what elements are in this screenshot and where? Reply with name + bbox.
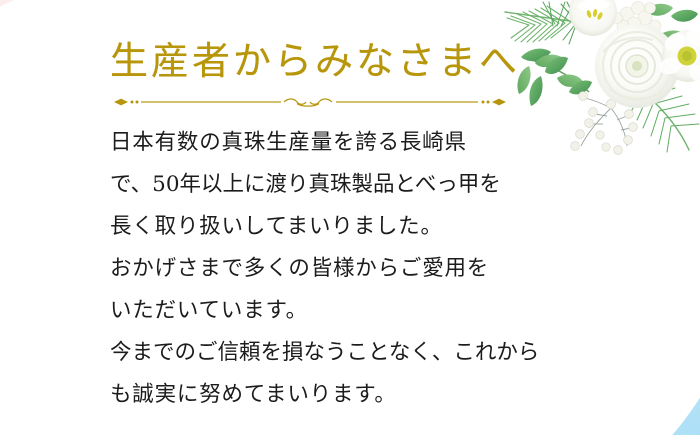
body-line: おかげさまで多くの皆様からご愛用を [110, 248, 530, 290]
ornamental-divider [112, 95, 508, 109]
page-title: 生産者からみなさまへ [110, 42, 520, 80]
banner-content: 生産者からみなさまへ [0, 0, 700, 435]
producer-message-banner: 生産者からみなさまへ [0, 0, 700, 435]
body-line: 今までのご信頼を損なうことなく、これから [110, 332, 530, 374]
body-line: いただいています。 [110, 290, 530, 332]
body-line: 日本有数の真珠生産量を誇る長崎県 [110, 122, 530, 164]
body-line: で、50年以上に渡り真珠製品とべっ甲を [110, 164, 530, 206]
body-line: 長く取り扱いしてまいりました。 [110, 206, 530, 248]
body-paragraph: 日本有数の真珠生産量を誇る長崎県 で、50年以上に渡り真珠製品とべっ甲を 長く取… [110, 122, 530, 416]
body-line: も誠実に努めてまいります。 [110, 374, 530, 416]
